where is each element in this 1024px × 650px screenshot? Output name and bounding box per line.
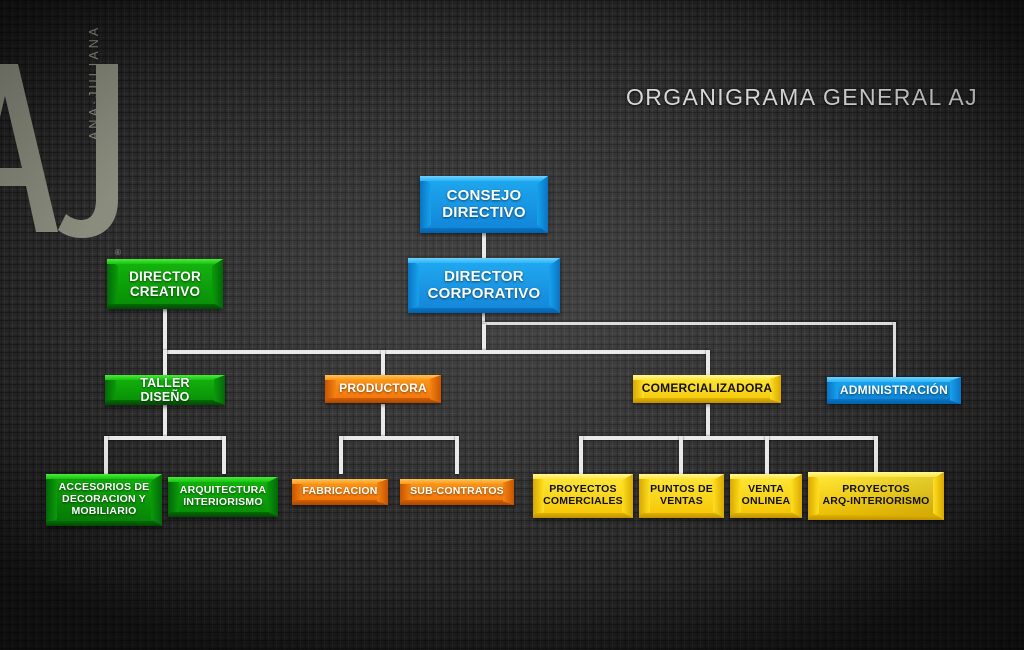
node-proyectos-comerciales[interactable]: PROYECTOS COMERCIALES [533, 474, 633, 518]
node-puntos-de-ventas[interactable]: PUNTOS DE VENTAS [639, 474, 724, 518]
connector-drop-arquitectura [222, 436, 226, 474]
connector-drop-puntos [679, 436, 683, 474]
node-sub-contratos[interactable]: SUB-CONTRATOS [400, 479, 514, 505]
node-venta-onlinea[interactable]: VENTA ONLINEA [730, 474, 802, 518]
node-label: SUB-CONTRATOS [400, 486, 514, 498]
connector-drop-ventaonline [765, 436, 769, 474]
connector-productora-stub [381, 404, 385, 438]
connector-bus-productora [339, 436, 459, 440]
connector-comercializadora-stub [706, 404, 710, 438]
node-label: TALLER DISEÑO [105, 376, 225, 404]
connector-drop-comercializadora [706, 350, 710, 376]
node-label: PUNTOS DE VENTAS [640, 484, 723, 508]
connector-drop-productora [381, 350, 385, 376]
connector-bus-main [165, 350, 710, 354]
node-label: VENTA ONLINEA [732, 484, 801, 508]
page-title: ORGANIGRAMA GENERAL AJ [626, 84, 978, 111]
connector-drop-fabricacion [339, 436, 343, 474]
connector-consejo-to-dircorp [482, 232, 486, 260]
node-label: PRODUCTORA [329, 382, 437, 395]
node-productora[interactable]: PRODUCTORA [325, 375, 441, 403]
node-accesorios-decoracion-mobiliario[interactable]: ACCESORIOS DE DECORACION Y MOBILIARIO [46, 474, 162, 526]
logo-ana-juliana: ANA·JULIANA ® [0, 62, 184, 242]
connector-bus-top [482, 322, 896, 325]
connector-drop-accesorios [104, 436, 108, 474]
node-administracion[interactable]: ADMINISTRACIÓN [827, 377, 961, 404]
node-label: CONSEJO DIRECTIVO [432, 188, 535, 222]
connector-taller-stub [163, 404, 167, 438]
node-director-creativo[interactable]: DIRECTOR CREATIVO [107, 259, 223, 309]
node-label: ARQUITECTURA INTERIORISMO [170, 485, 276, 509]
node-label: FABRICACION [292, 486, 387, 498]
node-label: PROYECTOS COMERCIALES [533, 484, 633, 508]
connector-drop-taller [163, 350, 167, 376]
connector-drop-proyarq [874, 436, 878, 474]
node-taller-diseno[interactable]: TALLER DISEÑO [105, 375, 225, 405]
org-chart-canvas: ANA·JULIANA ® ORGANIGRAMA GENERAL AJ CON… [0, 0, 1024, 650]
node-fabricacion[interactable]: FABRICACION [292, 479, 388, 505]
connector-drop-subcontratos [455, 436, 459, 474]
node-arquitectura-interiorismo[interactable]: ARQUITECTURA INTERIORISMO [168, 477, 278, 517]
node-label: ADMINISTRACIÓN [830, 384, 958, 397]
connector-drop-administracion [893, 322, 896, 378]
node-director-corporativo[interactable]: DIRECTOR CORPORATIVO [408, 258, 560, 313]
node-label: ACCESORIOS DE DECORACION Y MOBILIARIO [49, 482, 160, 517]
node-label: PROYECTOS ARQ-INTERIORISMO [812, 484, 939, 508]
logo-vertical-text: ANA·JULIANA [87, 25, 101, 140]
node-proyectos-arq-interiorismo[interactable]: PROYECTOS ARQ-INTERIORISMO [808, 472, 944, 520]
connector-bus-taller [104, 436, 226, 440]
node-label: DIRECTOR CORPORATIVO [418, 269, 551, 303]
connector-dircreativo-to-mainbus [163, 308, 167, 352]
node-comercializadora[interactable]: COMERCIALIZADORA [633, 375, 781, 403]
connector-bus-comercializadora [579, 436, 878, 440]
node-consejo-directivo[interactable]: CONSEJO DIRECTIVO [420, 176, 548, 233]
node-label: DIRECTOR CREATIVO [119, 269, 211, 299]
node-label: COMERCIALIZADORA [632, 382, 783, 395]
logo-registered-mark: ® [115, 248, 121, 257]
connector-drop-proycom [579, 436, 583, 474]
